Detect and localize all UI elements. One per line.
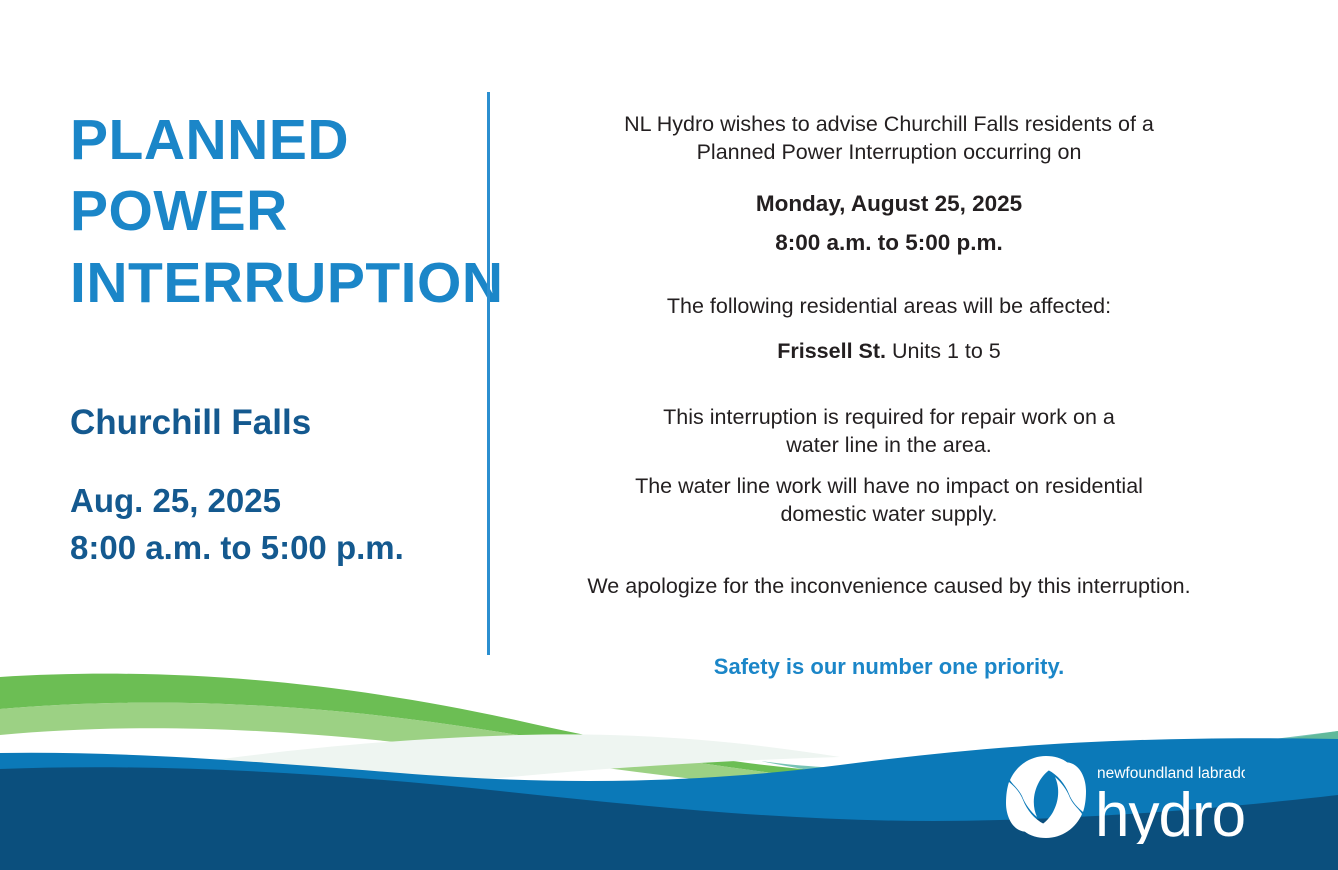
- logo-wordmark: hydro: [1095, 781, 1245, 844]
- intro-line-2: Planned Power Interruption occurring on: [505, 138, 1273, 166]
- left-summary-column: PLANNED POWER INTERRUPTION Churchill Fal…: [70, 105, 470, 571]
- datetime-block: Aug. 25, 2025 8:00 a.m. to 5:00 p.m.: [70, 478, 470, 572]
- street-name: Frissell St.: [777, 339, 886, 363]
- street-units: Units 1 to 5: [892, 339, 1001, 363]
- spacer: [505, 167, 1273, 189]
- power-interruption-notice: PLANNED POWER INTERRUPTION Churchill Fal…: [0, 0, 1338, 870]
- impact-line-1: The water line work will have no impact …: [505, 472, 1273, 500]
- summary-date: Aug. 25, 2025: [70, 478, 470, 525]
- spacer: [505, 218, 1273, 228]
- reason-line-1: This interruption is required for repair…: [505, 403, 1273, 431]
- spacer: [505, 460, 1273, 472]
- headline-line-3: INTERRUPTION: [70, 248, 470, 319]
- apology-text: We apologize for the inconvenience cause…: [505, 572, 1273, 600]
- intro-line-1: NL Hydro wishes to advise Churchill Fall…: [505, 110, 1273, 138]
- spacer: [505, 258, 1273, 292]
- headline-line-2: POWER: [70, 176, 470, 247]
- impact-line-2: domestic water supply.: [505, 500, 1273, 528]
- logo-tagline: newfoundland labrador: [1097, 765, 1245, 782]
- affected-street: Frissell St. Units 1 to 5: [505, 337, 1273, 365]
- event-time: 8:00 a.m. to 5:00 p.m.: [505, 228, 1273, 258]
- page-title: PLANNED POWER INTERRUPTION: [70, 105, 470, 319]
- location-block: Churchill Falls Aug. 25, 2025 8:00 a.m. …: [70, 402, 470, 572]
- spacer: [505, 528, 1273, 572]
- vertical-divider: [487, 92, 490, 655]
- summary-time: 8:00 a.m. to 5:00 p.m.: [70, 525, 470, 572]
- reason-line-2: water line in the area.: [505, 431, 1273, 459]
- location-label: Churchill Falls: [70, 402, 470, 444]
- nl-hydro-logo-svg: newfoundland labrador hydro: [1000, 752, 1245, 844]
- spacer: [505, 365, 1273, 403]
- event-date: Monday, August 25, 2025: [505, 189, 1273, 219]
- nl-hydro-leaf-mark-icon: [1006, 756, 1087, 838]
- spacer: [505, 321, 1273, 337]
- headline-line-1: PLANNED: [70, 105, 470, 176]
- affected-areas-heading: The following residential areas will be …: [505, 292, 1273, 320]
- right-details-column: NL Hydro wishes to advise Churchill Fall…: [505, 110, 1273, 680]
- nl-hydro-logo: newfoundland labrador hydro: [1000, 752, 1245, 844]
